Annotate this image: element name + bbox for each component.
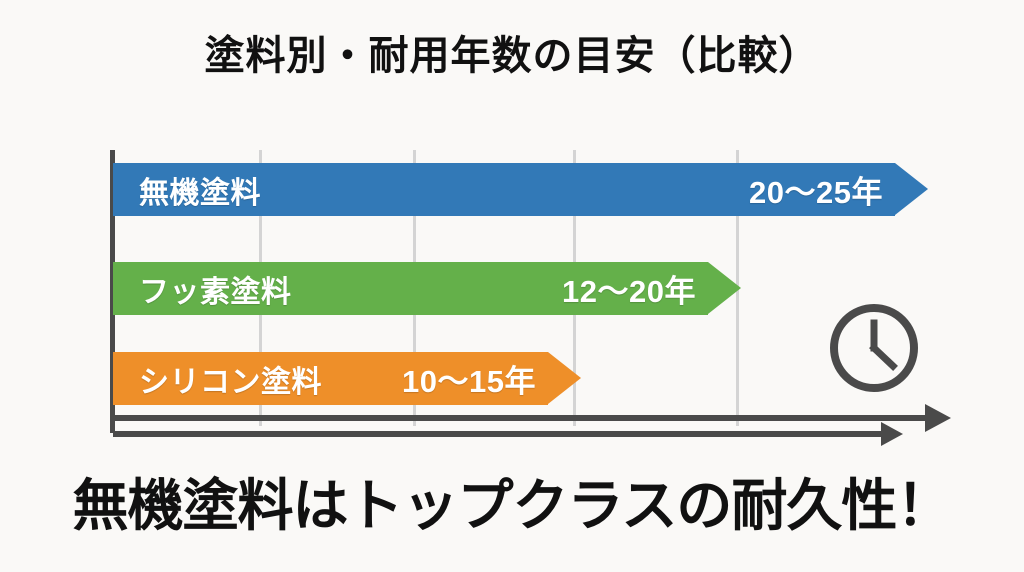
bar-silicone-label: シリコン塗料: [139, 357, 322, 401]
footer-headline: 無機塗料はトップクラスの耐久性！: [0, 477, 1024, 536]
clock-icon: [826, 300, 922, 396]
bar-inorganic-body: 無機塗料 20〜25年: [113, 163, 895, 216]
x-axis-arrow-upper-shaft: [113, 415, 925, 421]
x-axis-arrow-upper-head: [925, 404, 951, 432]
bar-fluorine-body: フッ素塗料 12〜20年: [113, 262, 708, 315]
bar-fluorine-arrowhead: [708, 262, 741, 314]
bar-inorganic-label: 無機塗料: [139, 168, 261, 212]
bar-fluorine-value: 12〜20年: [562, 266, 696, 311]
bar-silicone-body: シリコン塗料 10〜15年: [113, 352, 548, 405]
page-title: 塗料別・耐用年数の目安（比較）: [0, 34, 1024, 78]
bar-fluorine-label: フッ素塗料: [139, 267, 292, 311]
bar-silicone-value: 10〜15年: [402, 356, 536, 401]
bar-inorganic-value: 20〜25年: [749, 167, 883, 212]
x-axis-arrow-lower-head: [881, 422, 903, 446]
bar-silicone-arrowhead: [548, 352, 581, 404]
x-axis-arrow-lower-shaft: [113, 431, 881, 437]
bar-inorganic-arrowhead: [895, 163, 928, 215]
